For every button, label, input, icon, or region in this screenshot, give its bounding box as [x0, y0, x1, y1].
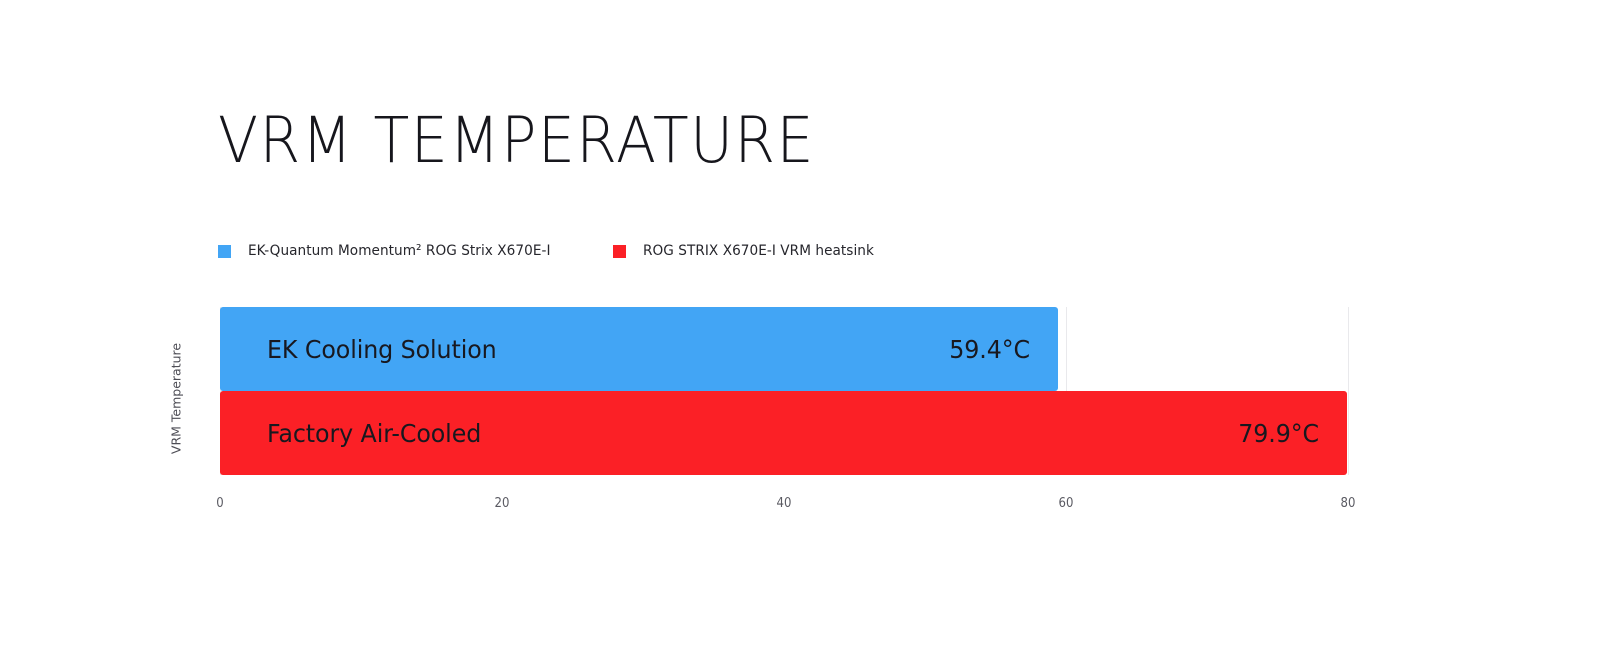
- x-tick-label: 20: [495, 496, 510, 511]
- legend-label-rog-strix: ROG STRIX X670E-I VRM heatsink: [643, 243, 874, 259]
- bar-label-value: 79.9°C: [1238, 419, 1319, 448]
- gridline-80: [1348, 307, 1349, 475]
- legend-swatch-red: [613, 245, 626, 258]
- chart-legend: EK-Quantum Momentum² ROG Strix X670E-I R…: [218, 241, 888, 261]
- x-tick-label: 60: [1059, 496, 1074, 511]
- bar-label-category: EK Cooling Solution: [267, 335, 497, 364]
- legend-item-ek-quantum[interactable]: EK-Quantum Momentum² ROG Strix X670E-I: [218, 241, 570, 261]
- chart-container: VRM TEMPERATURE EK-Quantum Momentum² ROG…: [0, 0, 1600, 645]
- x-tick-label: 0: [216, 496, 223, 511]
- x-tick-label: 80: [1341, 496, 1356, 511]
- x-tick-label: 40: [777, 496, 792, 511]
- legend-swatch-blue: [218, 245, 231, 258]
- bar-label-value: 59.4°C: [949, 335, 1030, 364]
- x-axis: 0 20 40 60 80: [220, 496, 1348, 516]
- bar-label-category: Factory Air-Cooled: [267, 419, 481, 448]
- bar-ek-cooling-solution[interactable]: EK Cooling Solution 59.4°C: [220, 307, 1058, 391]
- legend-label-ek-quantum: EK-Quantum Momentum² ROG Strix X670E-I: [248, 243, 551, 259]
- bar-row: Factory Air-Cooled 79.9°C: [220, 391, 1348, 475]
- page-title: VRM TEMPERATURE: [218, 108, 815, 174]
- plot-area: EK Cooling Solution 59.4°C Factory Air-C…: [220, 307, 1348, 475]
- bar-factory-air-cooled[interactable]: Factory Air-Cooled 79.9°C: [220, 391, 1347, 475]
- legend-item-rog-strix[interactable]: ROG STRIX X670E-I VRM heatsink: [613, 241, 889, 261]
- bar-row: EK Cooling Solution 59.4°C: [220, 307, 1348, 391]
- y-axis-title: VRM Temperature: [169, 343, 184, 454]
